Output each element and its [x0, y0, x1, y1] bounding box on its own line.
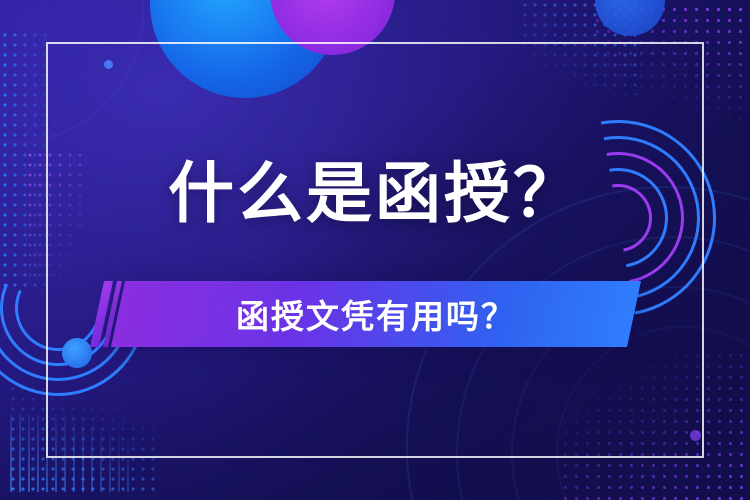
decor-dot-small-topleft [104, 60, 113, 69]
main-title-container: 什么是函授？ [0, 160, 750, 226]
decor-dot-small-bottomright [690, 430, 701, 441]
poster-main-title: 什么是函授？ [168, 160, 582, 226]
stripe-pattern-bottom-left [10, 414, 130, 492]
halftone-dots-bottom-right [560, 350, 750, 500]
decor-dot-blue-left [62, 338, 92, 368]
poster-canvas: 什么是函授？ 函授文凭有用吗？ [0, 0, 750, 500]
poster-subtitle: 函授文凭有用吗？ [118, 281, 634, 347]
